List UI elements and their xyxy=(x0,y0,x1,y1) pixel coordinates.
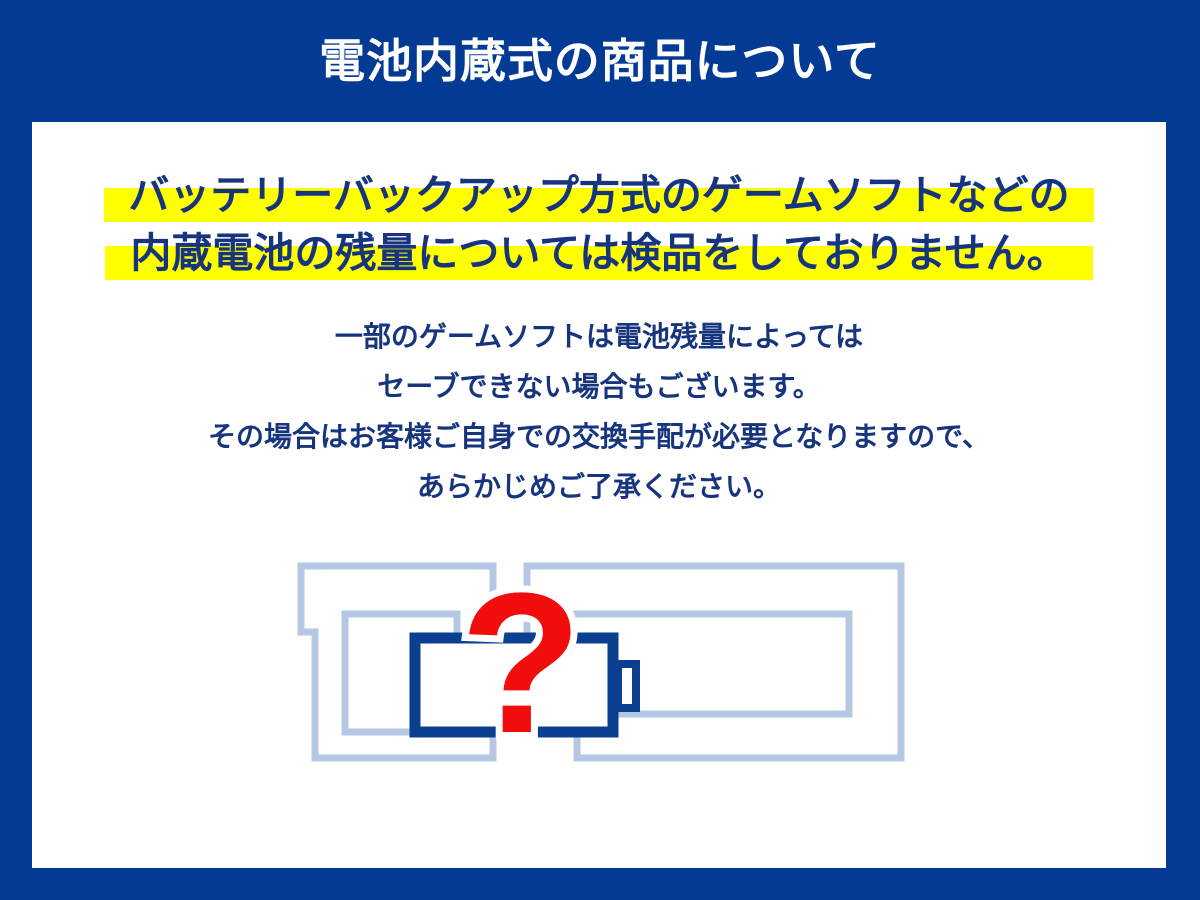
cartridge-battery-illustration: ? xyxy=(269,552,929,792)
body-line-4: あらかじめご了承ください。 xyxy=(32,462,1166,512)
headline-line-1: バッテリーバックアップ方式のゲームソフトなどの xyxy=(32,166,1166,224)
headline-block: バッテリーバックアップ方式のゲームソフトなどの 内蔵電池の残量については検品をし… xyxy=(32,166,1166,282)
body-line-2: セーブできない場合もございます。 xyxy=(32,362,1166,412)
question-mark-icon: ? xyxy=(460,552,582,775)
headline-line-1-text: バッテリーバックアップ方式のゲームソフトなどの xyxy=(124,166,1073,224)
headline-line-2-text: 内蔵電池の残量については検品をしておりません。 xyxy=(126,224,1071,282)
page-root: 電池内蔵式の商品について バッテリーバックアップ方式のゲームソフトなどの 内蔵電… xyxy=(0,0,1200,900)
body-text-block: 一部のゲームソフトは電池残量によっては セーブできない場合もございます。 その場… xyxy=(32,312,1166,512)
header-band: 電池内蔵式の商品について xyxy=(0,0,1200,122)
content-card: バッテリーバックアップ方式のゲームソフトなどの 内蔵電池の残量については検品をし… xyxy=(32,122,1166,868)
illustration-block: ? xyxy=(32,552,1166,832)
body-line-1: 一部のゲームソフトは電池残量によっては xyxy=(32,312,1166,362)
battery-terminal xyxy=(618,664,636,708)
page-title: 電池内蔵式の商品について xyxy=(319,38,881,84)
body-line-3: その場合はお客様ご自身での交換手配が必要となりますので、 xyxy=(32,412,1166,462)
headline-line-2: 内蔵電池の残量については検品をしておりません。 xyxy=(32,224,1166,282)
